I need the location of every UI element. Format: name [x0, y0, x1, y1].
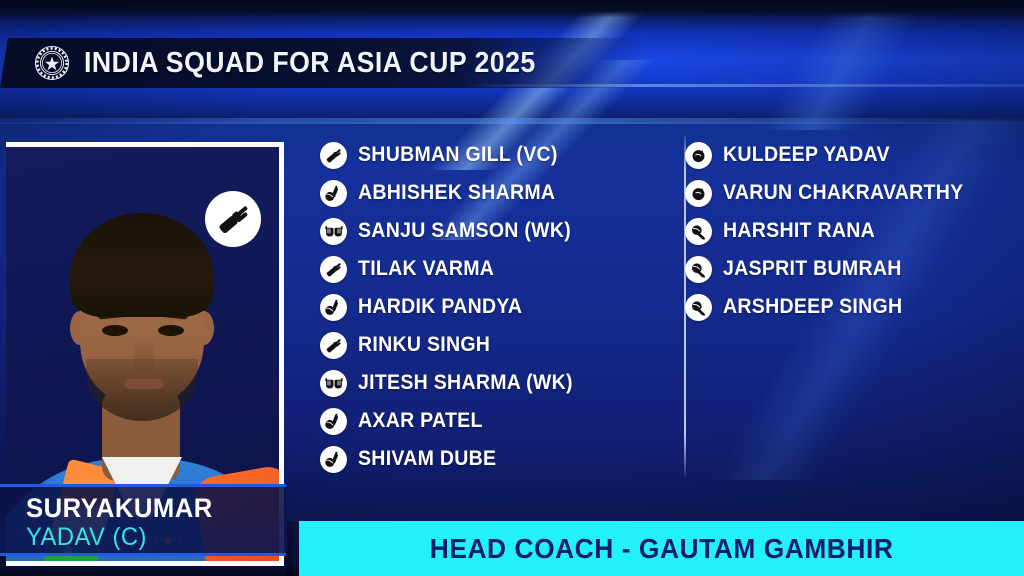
- player-row: AXAR PATEL: [320, 402, 670, 440]
- player-row: SHIVAM DUBE: [320, 440, 670, 478]
- squad-right-column: KULDEEP YADAVVARUN CHAKRAVARTHYHARSHIT R…: [685, 136, 1015, 326]
- player-first-name: SURYAKUMAR: [26, 493, 273, 523]
- keeper-gloves-icon: [320, 370, 347, 397]
- player-row: JITESH SHARMA (WK): [320, 364, 670, 402]
- player-name: SANJU SAMSON (WK): [358, 219, 571, 243]
- featured-player-nameplate: SURYAKUMAR YADAV (C): [0, 484, 286, 556]
- player-name: AXAR PATEL: [358, 409, 483, 433]
- cricket-bat-icon: [320, 332, 347, 359]
- spin-ball-icon: [685, 180, 712, 207]
- player-mouth: [124, 379, 164, 389]
- player-row: HARDIK PANDYA: [320, 288, 670, 326]
- player-name: TILAK VARMA: [358, 257, 494, 281]
- player-name: ABHISHEK SHARMA: [358, 181, 555, 205]
- player-row: SANJU SAMSON (WK): [320, 212, 670, 250]
- player-hair: [70, 213, 214, 317]
- page-title: INDIA SQUAD FOR ASIA CUP 2025: [84, 47, 536, 80]
- bcci-emblem-icon: [34, 45, 70, 81]
- player-row: ARSHDEEP SINGH: [685, 288, 1015, 326]
- cricket-bat-icon: [320, 142, 347, 169]
- bat-and-ball-icon: [320, 408, 347, 435]
- player-last-name: YADAV (C): [26, 523, 273, 551]
- player-name: VARUN CHAKRAVARTHY: [723, 181, 963, 205]
- squad-list: SHUBMAN GILL (VC)ABHISHEK SHARMASANJU SA…: [320, 136, 1020, 486]
- player-name: JASPRIT BUMRAH: [723, 257, 902, 281]
- player-row: HARSHIT RANA: [685, 212, 1015, 250]
- pace-ball-icon: [685, 294, 712, 321]
- spin-ball-icon: [685, 142, 712, 169]
- bat-and-ball-icon: [320, 446, 347, 473]
- player-nose: [134, 337, 154, 373]
- player-name: JITESH SHARMA (WK): [358, 371, 573, 395]
- cricket-bat-icon: [320, 256, 347, 283]
- player-eye: [102, 325, 128, 336]
- pace-ball-icon: [685, 218, 712, 245]
- pace-ball-icon: [685, 256, 712, 283]
- head-coach-text: HEAD COACH - GAUTAM GAMBHIR: [430, 533, 894, 565]
- player-row: KULDEEP YADAV: [685, 136, 1015, 174]
- player-eye: [158, 325, 184, 336]
- player-row: SHUBMAN GILL (VC): [320, 136, 670, 174]
- player-row: VARUN CHAKRAVARTHY: [685, 174, 1015, 212]
- squad-left-column: SHUBMAN GILL (VC)ABHISHEK SHARMASANJU SA…: [320, 136, 670, 478]
- player-name: HARSHIT RANA: [723, 219, 875, 243]
- player-row: JASPRIT BUMRAH: [685, 250, 1015, 288]
- head-coach-banner: HEAD COACH - GAUTAM GAMBHIR: [299, 521, 1024, 576]
- player-name: SHIVAM DUBE: [358, 447, 496, 471]
- player-row: RINKU SINGH: [320, 326, 670, 364]
- player-name: HARDIK PANDYA: [358, 295, 522, 319]
- cricket-bat-icon: [205, 191, 261, 247]
- player-row: ABHISHEK SHARMA: [320, 174, 670, 212]
- player-name: SHUBMAN GILL (VC): [358, 143, 558, 167]
- player-name: RINKU SINGH: [358, 333, 490, 357]
- player-name: ARSHDEEP SINGH: [723, 295, 902, 319]
- bat-and-ball-icon: [320, 294, 347, 321]
- player-row: TILAK VARMA: [320, 250, 670, 288]
- top-edge-shade: [0, 0, 1024, 18]
- player-name: KULDEEP YADAV: [723, 143, 890, 167]
- broadcast-graphic: INDIA SQUAD FOR ASIA CUP 2025 DREAM: [0, 0, 1024, 576]
- keeper-gloves-icon: [320, 218, 347, 245]
- bat-and-ball-icon: [320, 180, 347, 207]
- header: INDIA SQUAD FOR ASIA CUP 2025: [34, 40, 575, 86]
